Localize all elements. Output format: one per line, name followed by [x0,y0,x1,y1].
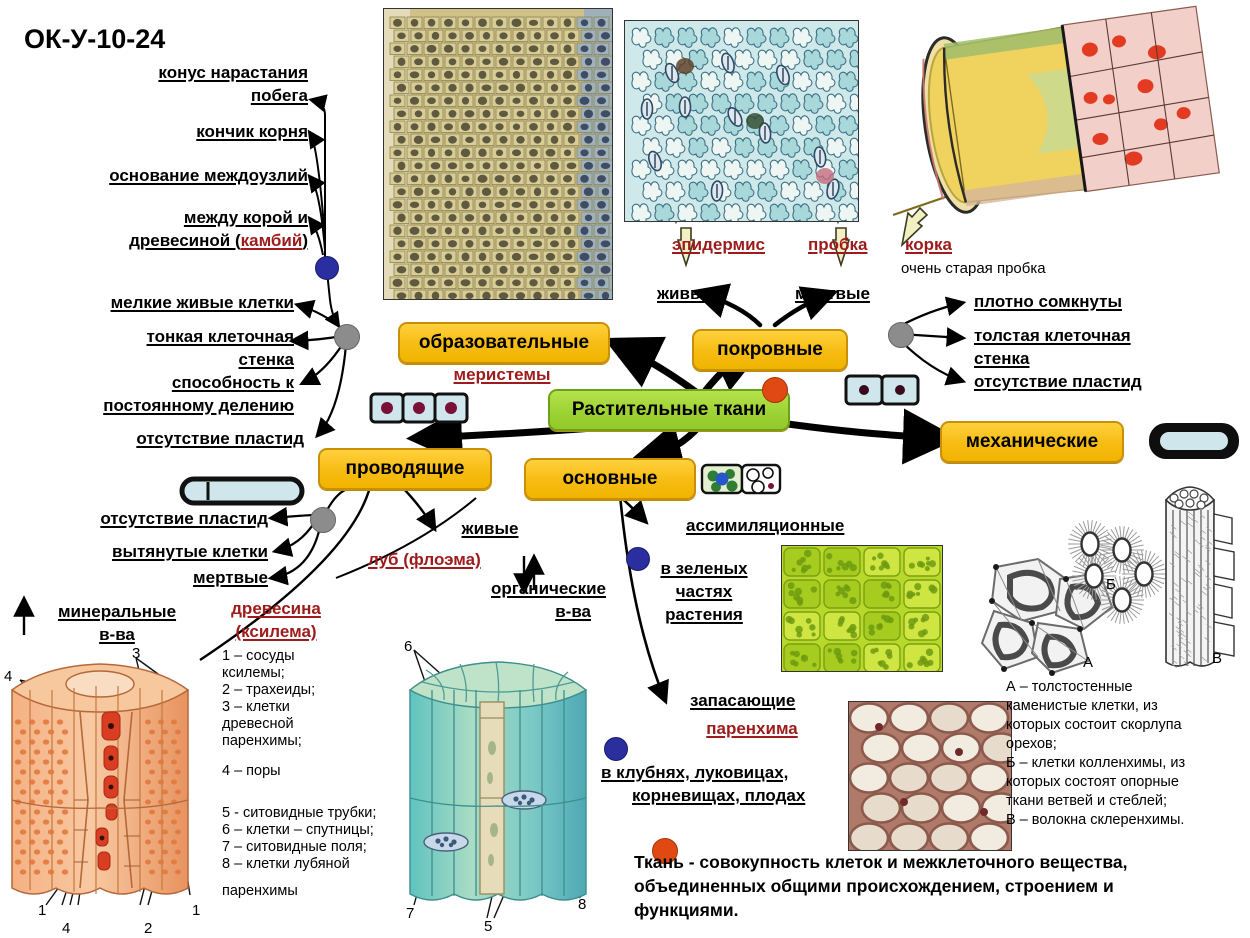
xylem-legend-line: 3 – клетки [222,699,352,716]
meristem-prop-2: тонкая клеточная [46,326,294,347]
definition-line: Ткань - совокупность клеток и межклеточн… [634,850,1154,874]
assimilating-label: ассимиляционные [686,515,844,536]
dermal-prop-2: толстая клеточная [974,325,1131,346]
phloem-callout-8: 8 [578,896,586,914]
dermal-prop-1: плотно сомкнуты [974,291,1122,312]
xylem-illustration [4,650,216,908]
phloem-callout-7: 7 [406,905,414,923]
grey-hub-dermal [888,322,914,348]
cork-label: пробка [808,234,868,255]
organic-substances-label: органические [491,578,606,599]
dead-label: мертвые [795,283,870,304]
xylem-callout-2: 2 [144,920,152,938]
collenchyma-drawing-b [1060,516,1170,626]
cambium-accent: камбий [241,231,303,250]
conducting-prop-3: мертвые [30,567,268,588]
box-dermal-label: покровные [717,339,823,361]
mineral-substances-label2: в-ва [38,624,196,645]
mech-legend-line: орехов; [1006,735,1246,754]
mineral-substances-label: минеральные [38,601,196,622]
bark-cross-section-illustration [912,10,1212,210]
phloem-alive-label: живые [425,518,555,539]
meristem-location-4: между корой и [40,207,308,228]
xylem-label-1: древесина [206,598,346,619]
assim-loc-3: растения [646,604,762,625]
meristem-alt-name: меристемы [398,364,606,385]
xylem-callout-1-left: 1 [38,902,46,920]
box-dermal[interactable]: покровные [692,329,848,371]
parenchyma-label: паренхима [678,718,826,739]
organic-substances-label2: в-ва [441,601,591,622]
meristem-location-1: конус нарастания [60,62,308,83]
mechanical-legend: А – толстостенные каменистые клетки, из … [1006,678,1246,830]
meristem-location-1b: побега [60,85,308,106]
xylem-legend-line: древесной [222,716,352,733]
mech-legend-line: В – волокна склеренхимы. [1006,811,1246,830]
storing-micrograph [848,701,1012,851]
sclerenchyma-fibers-drawing-v [1160,478,1250,678]
phloem-legend-line: 7 – ситовидные поля; [222,839,402,856]
orange-dot-main [762,377,788,403]
xylem-legend-pores: 4 – поры [222,763,352,780]
mech-legend-line: которых состоит скорлупа [1006,716,1246,735]
mech-legend-line: которых состоят опорные [1006,773,1246,792]
box-ground-label: основные [563,468,658,490]
box-meristem-label: образовательные [419,332,589,354]
box-mechanical-label: механические [966,431,1098,453]
box-plant-tissues[interactable]: Растительные ткани [548,389,790,431]
mech-legend-line: ткани ветвей и стеблей; [1006,792,1246,811]
dermal-prop-2b: стенка [974,348,1029,369]
epidermis-micrograph [624,20,859,222]
xylem-legend-line: 1 – сосуды [222,648,352,665]
bark-label: корка [905,234,952,255]
xylem-callout-4-bottom: 4 [62,920,70,938]
grey-hub-conducting [310,507,336,533]
xylem-legend-line: ксилемы; [222,665,352,682]
dermal-prop-3: отсутствие пластид [974,371,1142,392]
meristem-micrograph [383,8,613,300]
box-ground[interactable]: основные [524,458,696,500]
phloem-legend-line: 6 – клетки – спутницы; [222,822,402,839]
box-conducting-label: проводящие [346,458,465,480]
meristem-location-4b: древесиной (камбий) [30,230,308,251]
assimilating-micrograph [781,545,943,672]
definition-line: объединенных общими происхождением, стро… [634,874,1154,898]
meristem-location-3: основание междоузлий [40,165,308,186]
conducting-prop-2: вытянутые клетки [30,541,268,562]
xylem-legend-line: 2 – трахеиды; [222,682,352,699]
storing-label: запасающие [690,690,795,711]
meristem-prop-1: мелкие живые клетки [46,292,294,313]
phloem-legend-last: паренхимы [222,883,402,900]
fiber-cell-icon [1146,418,1242,469]
grey-hub-meristem [334,324,360,350]
mech-legend-line: А – толстостенные [1006,678,1246,697]
mech-legend-line: Б – клетки колленхимы, из [1006,754,1246,773]
mech-legend-line: каменистые клетки, из [1006,697,1246,716]
meristem-prop-3b: постоянному делению [36,395,294,416]
store-loc-1: в клубнях, луковицах, [601,762,788,783]
phloem-callout-5: 5 [484,918,492,936]
xylem-callout-3: 3 [132,645,140,663]
mech-label-b: Б [1106,576,1116,594]
box-plant-tissues-label: Растительные ткани [572,399,766,421]
alive-label: живые [657,283,714,304]
mech-label-v: В [1212,650,1222,668]
xylem-legend: 1 – сосуды ксилемы; 2 – трахеиды; 3 – кл… [222,648,352,780]
page-title: ОК-У-10-24 [24,24,165,55]
blue-dot-meristem [315,256,339,280]
definition-line: функциями. [634,898,1154,922]
store-loc-2: корневищах, плодах [632,785,805,806]
phloem-callout-6: 6 [404,638,412,656]
tissue-definition: Ткань - совокупность клеток и межклеточн… [634,850,1154,922]
blue-dot-storing [604,737,628,761]
conducting-prop-1: отсутствие пластид [20,508,268,529]
xylem-callout-1-right: 1 [192,902,200,920]
meristem-prop-4: отсутствие пластид [46,428,304,449]
mech-label-a: А [1083,654,1093,672]
xylem-legend-line: паренхимы; [222,733,352,750]
meristem-cells-icon [368,388,474,433]
phloem-legend: 5 - ситовидные трубки; 6 – клетки – спут… [222,805,402,900]
xylem-label-2: (ксилема) [206,621,346,642]
phloem-legend-line: 5 - ситовидные трубки; [222,805,402,822]
box-conducting[interactable]: проводящие [318,448,492,490]
ground-cells-icon [700,460,782,503]
meristem-location-2: кончик корня [60,121,308,142]
assim-loc-2: частях [646,581,762,602]
very-old-cork-note: очень старая пробка [901,260,1046,278]
assim-loc-1: в зеленых [646,558,762,579]
meristem-prop-3: способность к [46,372,294,393]
box-mechanical[interactable]: механические [940,421,1124,463]
phloem-legend-line: 8 – клетки лубяной [222,856,402,873]
epidermis-label: эпидермис [672,234,765,255]
phloem-illustration [404,648,604,916]
dermal-cells-icon [843,370,923,415]
xylem-callout-4-top: 4 [4,668,12,686]
box-meristem[interactable]: образовательные [398,322,610,364]
phloem-label: луб (флоэма) [368,549,481,570]
meristem-prop-2b: стенка [46,349,294,370]
